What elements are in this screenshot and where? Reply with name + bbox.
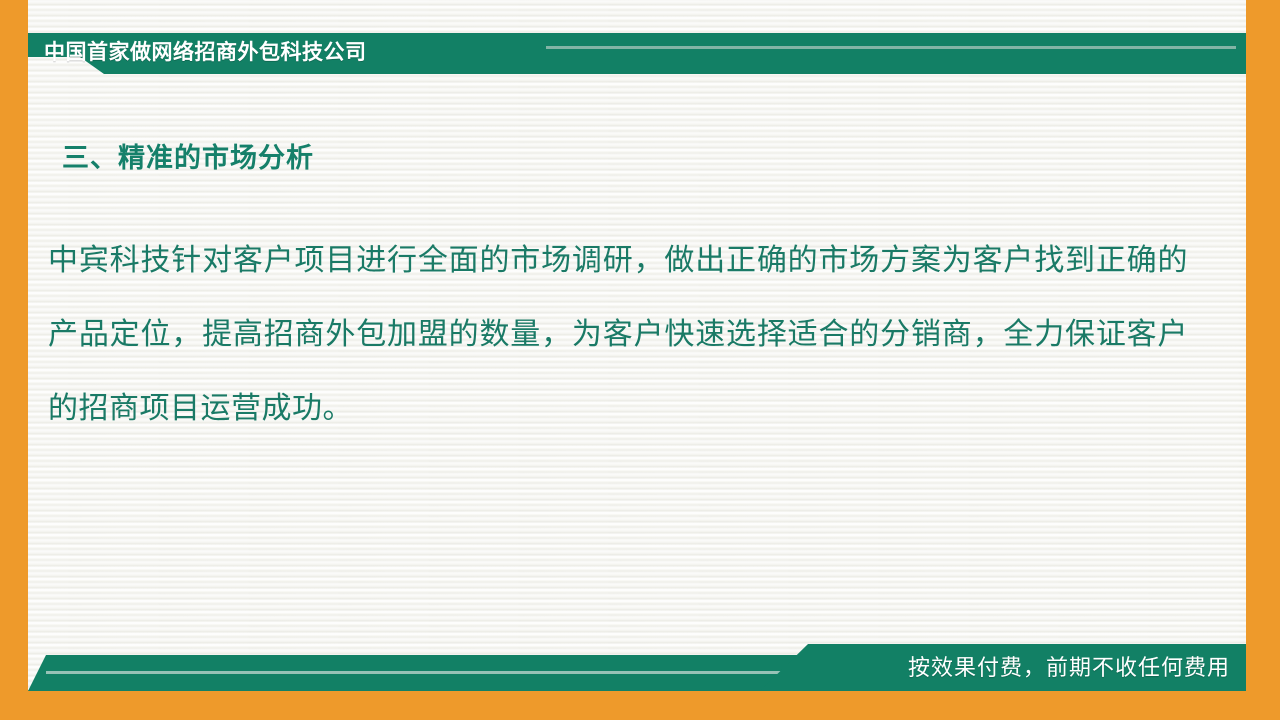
header-title: 中国首家做网络招商外包科技公司 <box>44 36 367 70</box>
footer-tagline: 按效果付费，前期不收任何费用 <box>908 648 1230 688</box>
section-heading: 三、精准的市场分析 <box>62 136 314 175</box>
footer-divider-rule <box>46 671 786 674</box>
header-divider-rule <box>546 46 1236 49</box>
bottom-orange-strip <box>0 690 1280 720</box>
slide-canvas: 中国首家做网络招商外包科技公司 三、精准的市场分析 中宾科技针对客户项目进行全面… <box>0 0 1280 720</box>
body-paragraph: 中宾科技针对客户项目进行全面的市场调研，做出正确的市场方案为客户找到正确的产品定… <box>48 224 1188 446</box>
